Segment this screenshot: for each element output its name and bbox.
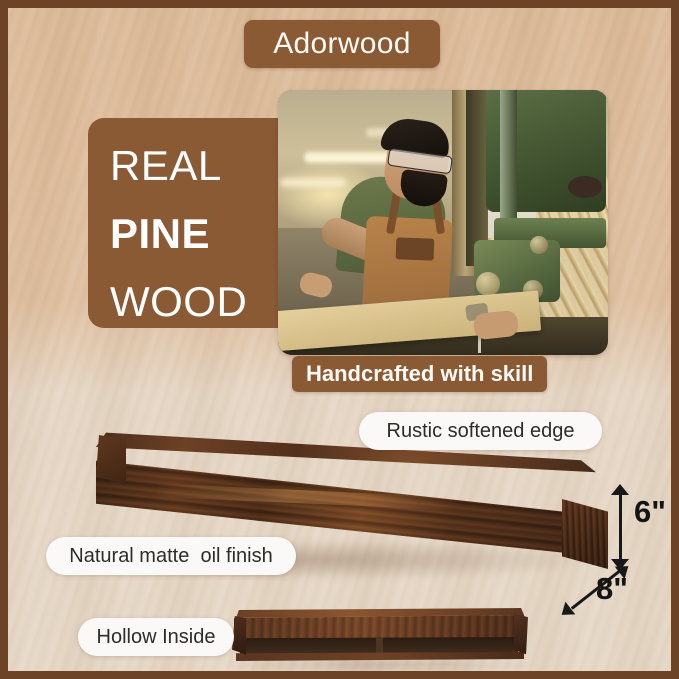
headline-line-3: WOOD — [110, 268, 288, 336]
brand-badge: Adorwood — [244, 20, 440, 68]
brand-name: Adorwood — [273, 27, 411, 61]
height-arrow-line — [619, 492, 622, 562]
photo-saw-knob-1 — [476, 272, 500, 296]
beam-right-end-grain — [562, 499, 608, 569]
callout-hollow-inside: Hollow Inside — [78, 618, 234, 656]
callout-rustic-edge: Rustic softened edge — [359, 412, 602, 450]
shelf-center-divider — [376, 638, 383, 654]
callout-oil-finish-label: Natural matte oil finish — [69, 545, 272, 568]
height-dimension-label: 6" — [634, 494, 666, 530]
photo-caption-label: Handcrafted with skill — [306, 361, 533, 387]
callout-oil-finish: Natural matte oil finish — [46, 537, 296, 575]
headline-panel: REAL PINE WOOD — [88, 118, 288, 328]
photo-saw-knob-3 — [530, 236, 548, 254]
callout-hollow-inside-label: Hollow Inside — [97, 626, 216, 649]
callout-rustic-edge-label: Rustic softened edge — [387, 420, 575, 443]
photo-caption: Handcrafted with skill — [292, 356, 547, 392]
photo-apron-pocket — [396, 237, 435, 260]
photo-ceiling-light-1 — [304, 152, 392, 163]
photo-bandsaw-wheel — [568, 176, 602, 198]
headline-line-1: REAL — [110, 132, 288, 200]
workshop-photo — [278, 90, 608, 355]
photo-ceiling-light-2 — [280, 178, 346, 187]
headline-line-2: PINE — [110, 200, 288, 268]
hollow-shelf — [230, 608, 526, 666]
shelf-right-end — [514, 612, 528, 656]
shelf-bottom-edge — [236, 652, 524, 661]
photo-bandsaw-column — [500, 90, 517, 226]
product-infographic: Adorwood REAL PINE WOOD — [0, 0, 679, 679]
depth-dimension-label: 8" — [596, 571, 628, 607]
height-dimension-arrow — [608, 486, 632, 568]
